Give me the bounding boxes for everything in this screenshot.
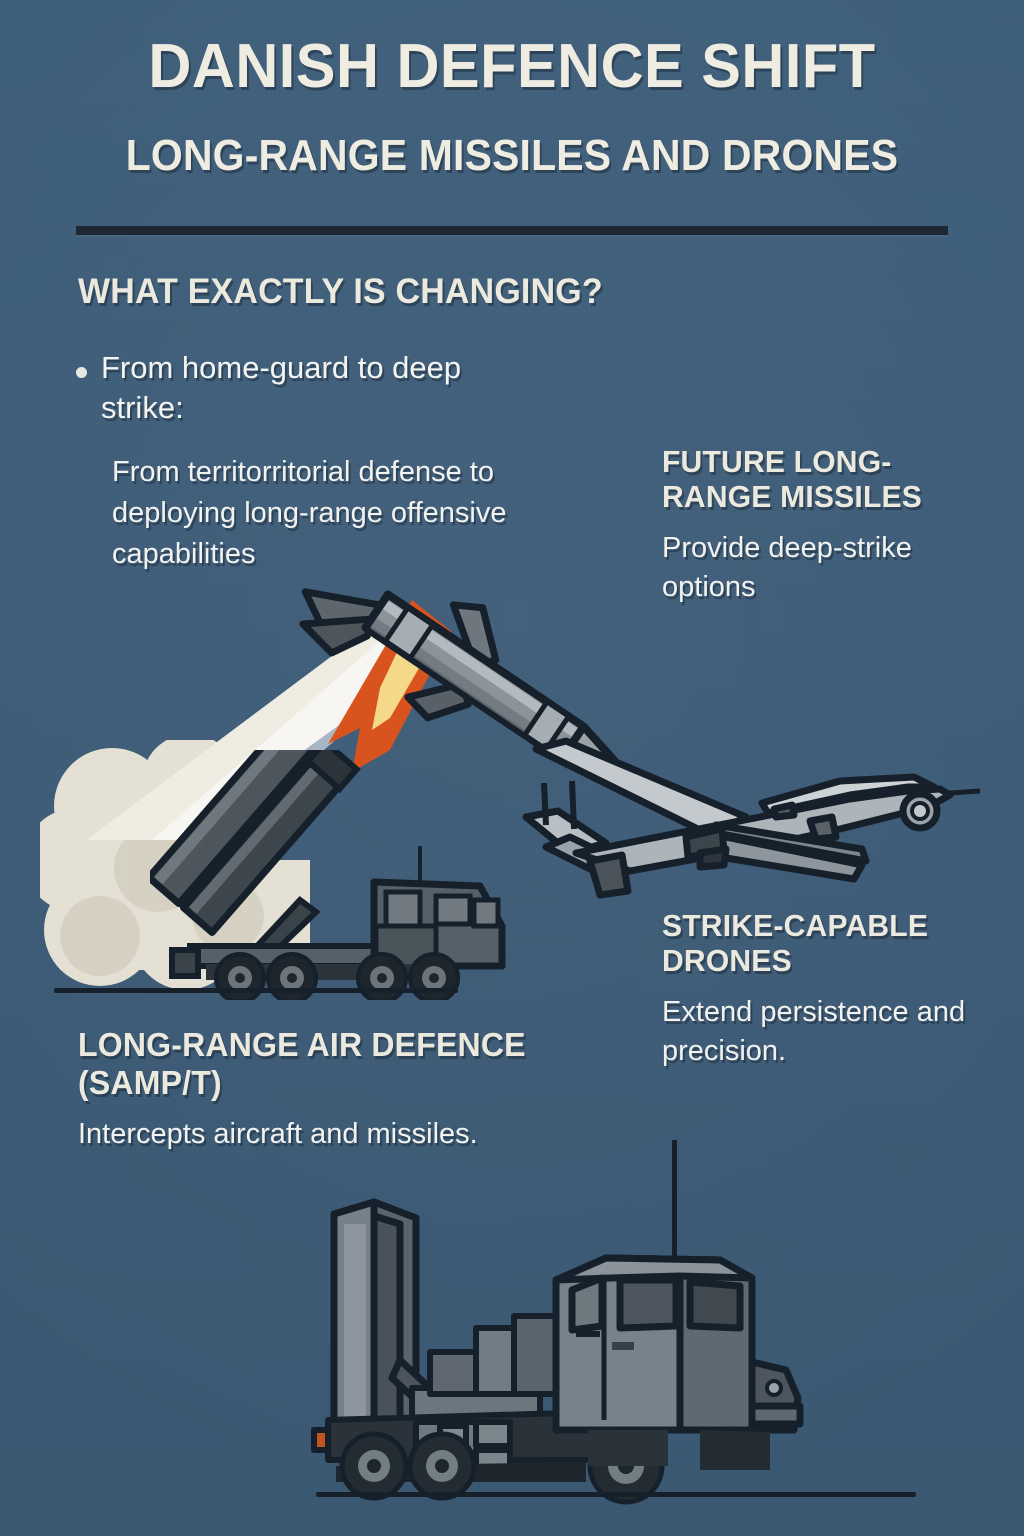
ground-line-upper bbox=[54, 988, 458, 993]
ground-line-lower bbox=[316, 1492, 916, 1497]
infographic-poster: DANISH DEFENCE SHIFT LONG-RANGE MISSILES… bbox=[0, 0, 1024, 1536]
bullet-lead-text: From home-guard to deep strike: bbox=[101, 348, 526, 429]
bullet-dot-icon bbox=[76, 367, 87, 378]
callout-body: Extend persistence and precision. bbox=[662, 993, 1002, 1072]
callout-future-missiles: FUTURE LONG-RANGE MISSILES Provide deep-… bbox=[662, 444, 992, 608]
callout-body: Provide deep-strike options bbox=[662, 529, 992, 608]
callout-body: Intercepts aircraft and missiles. bbox=[78, 1115, 618, 1154]
callout-heading: FUTURE LONG-RANGE MISSILES bbox=[662, 444, 982, 515]
changing-bullet-item: From home-guard to deep strike: bbox=[76, 348, 526, 429]
callout-air-defence: LONG-RANGE AIR DEFENCE (SAMP/T) Intercep… bbox=[78, 1026, 618, 1155]
bullet-body-text: From territorritorial defense to deployi… bbox=[112, 452, 512, 576]
callout-heading: STRIKE-CAPABLE DRONES bbox=[662, 908, 992, 979]
strike-drone bbox=[510, 725, 980, 905]
callout-strike-drones: STRIKE-CAPABLE DRONES Extend persistence… bbox=[662, 908, 1002, 1072]
callout-heading: LONG-RANGE AIR DEFENCE (SAMP/T) bbox=[78, 1026, 602, 1101]
page-subtitle: LONG-RANGE MISSILES AND DRONES bbox=[36, 134, 988, 178]
page-title: DANISH DEFENCE SHIFT bbox=[20, 36, 1003, 98]
himars-launcher-truck bbox=[150, 750, 530, 1000]
sampt-launcher-truck bbox=[300, 1130, 860, 1530]
title-divider bbox=[76, 226, 948, 235]
section-heading-changing: WHAT EXACTLY IS CHANGING? bbox=[78, 272, 603, 312]
